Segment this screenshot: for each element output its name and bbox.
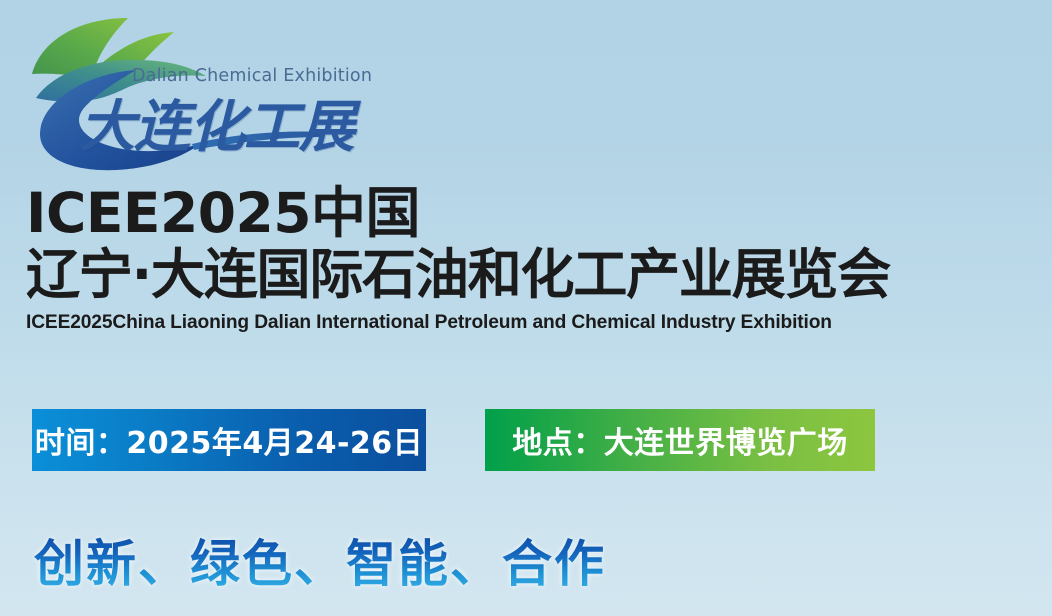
title-line-2: 辽宁·大连国际石油和化工产业展览会 xyxy=(26,244,1026,306)
logo: Dalian Chemical Exhibition 大连化工展 xyxy=(24,12,344,172)
date-badge: 时间：2025年4月24-26日 xyxy=(32,409,426,471)
title-english: ICEE2025China Liaoning Dalian Internatio… xyxy=(26,311,1011,334)
exhibition-poster: Dalian Chemical Exhibition 大连化工展 ICEE202… xyxy=(0,0,1052,616)
slogan: 创新、绿色、智能、合作 xyxy=(34,524,606,596)
slogan-text: 创新、绿色、智能、合作 xyxy=(34,535,606,593)
title-block: ICEE2025中国 辽宁·大连国际石油和化工产业展览会 ICEE2025Chi… xyxy=(26,182,1026,334)
title-line-1: ICEE2025中国 xyxy=(26,182,1026,244)
logo-chinese-name: 大连化工展 xyxy=(79,82,354,163)
venue-badge: 地点：大连世界博览广场 xyxy=(485,409,875,471)
